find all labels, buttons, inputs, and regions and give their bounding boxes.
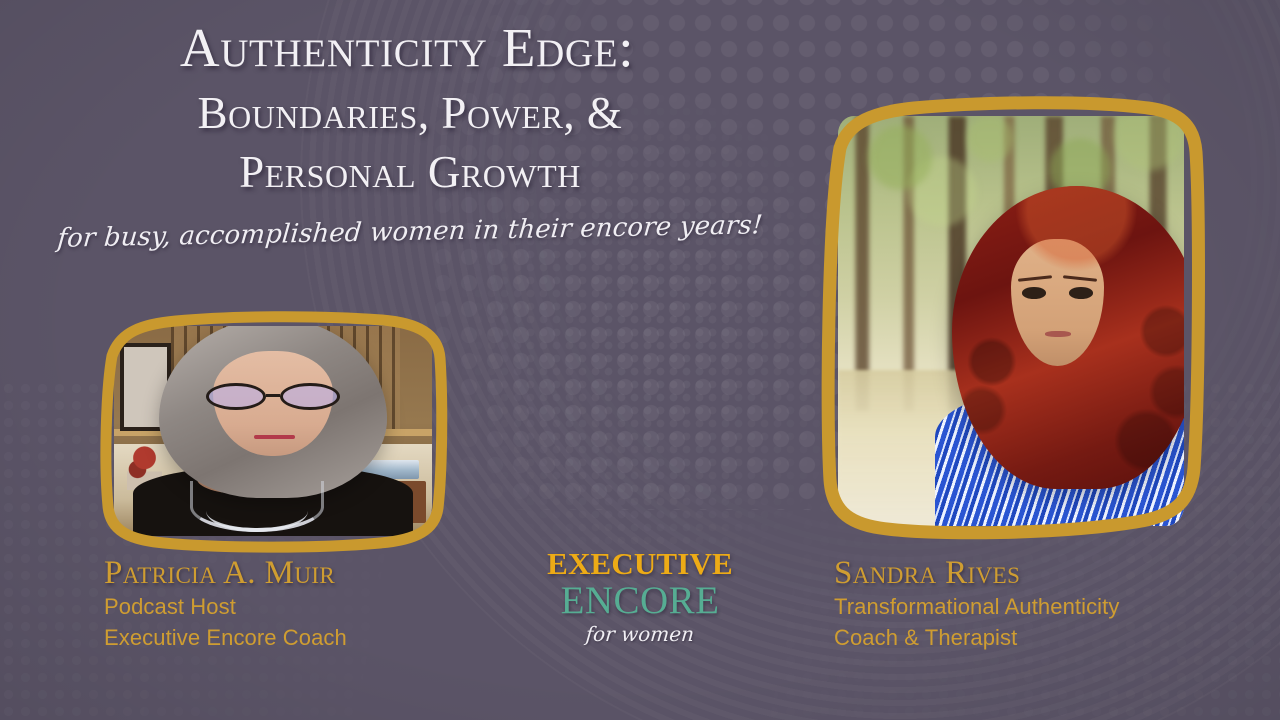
speaker-role-line1: Podcast Host [104,591,524,622]
speaker-info-patricia-muir: Patricia A. Muir Podcast Host Executive … [104,556,524,653]
logo-word-encore: ENCORE [490,581,790,621]
logo-word-executive: EXECUTIVE [490,548,790,580]
logo-tagline: for women [489,622,791,646]
speaker-role-line2: Executive Encore Coach [104,622,524,653]
speaker-role-line2: Coach & Therapist [834,622,1234,653]
photo-card-sandra-rives [818,96,1204,548]
title-line-2: Boundaries, Power, & [40,91,780,136]
gold-brush-frame-right [818,96,1204,548]
gold-brush-frame-left [98,312,448,550]
title-block: Authenticity Edge: Boundaries, Power, & … [40,20,780,247]
title-line-3: Personal Growth [40,150,780,195]
brand-logo-executive-encore: EXECUTIVE ENCORE for women [490,548,790,646]
title-line-1: Authenticity Edge: [34,20,780,75]
speaker-info-sandra-rives: Sandra Rives Transformational Authentici… [834,556,1234,653]
photo-card-patricia-muir [98,312,448,550]
speaker-name: Sandra Rives [834,556,1234,591]
speaker-name: Patricia A. Muir [104,556,524,591]
speaker-role-line1: Transformational Authenticity [834,591,1234,622]
